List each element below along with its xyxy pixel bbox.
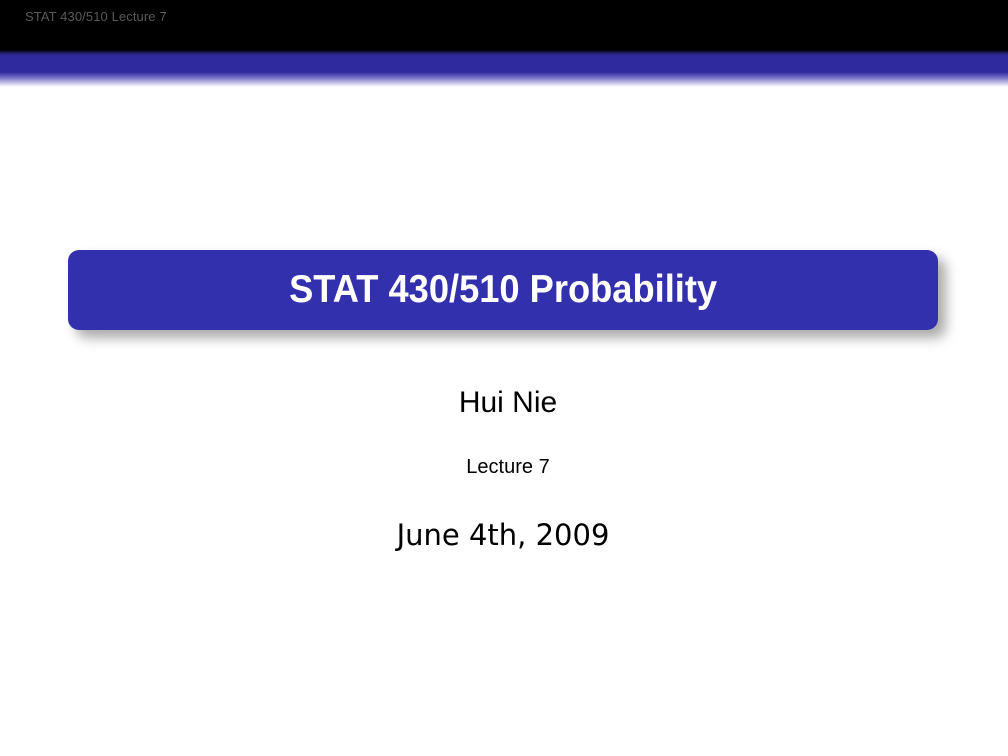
lecture-label: Lecture 7 bbox=[0, 455, 1008, 479]
presentation-date: June 4th, 2009 bbox=[0, 518, 1006, 552]
presentation-slide: STAT 430/510 Lecture 7 STAT 430/510 Prob… bbox=[0, 0, 1008, 756]
title-plaque: STAT 430/510 Probability bbox=[68, 250, 938, 330]
header-running-title: STAT 430/510 Lecture 7 bbox=[25, 9, 167, 24]
header-band-accent bbox=[0, 56, 1008, 72]
slide-title: STAT 430/510 Probability bbox=[289, 268, 717, 312]
author-name: Hui Nie bbox=[0, 386, 1008, 420]
slide-header-bar: STAT 430/510 Lecture 7 bbox=[0, 0, 1008, 50]
header-band-bottom-gradient bbox=[0, 72, 1008, 87]
